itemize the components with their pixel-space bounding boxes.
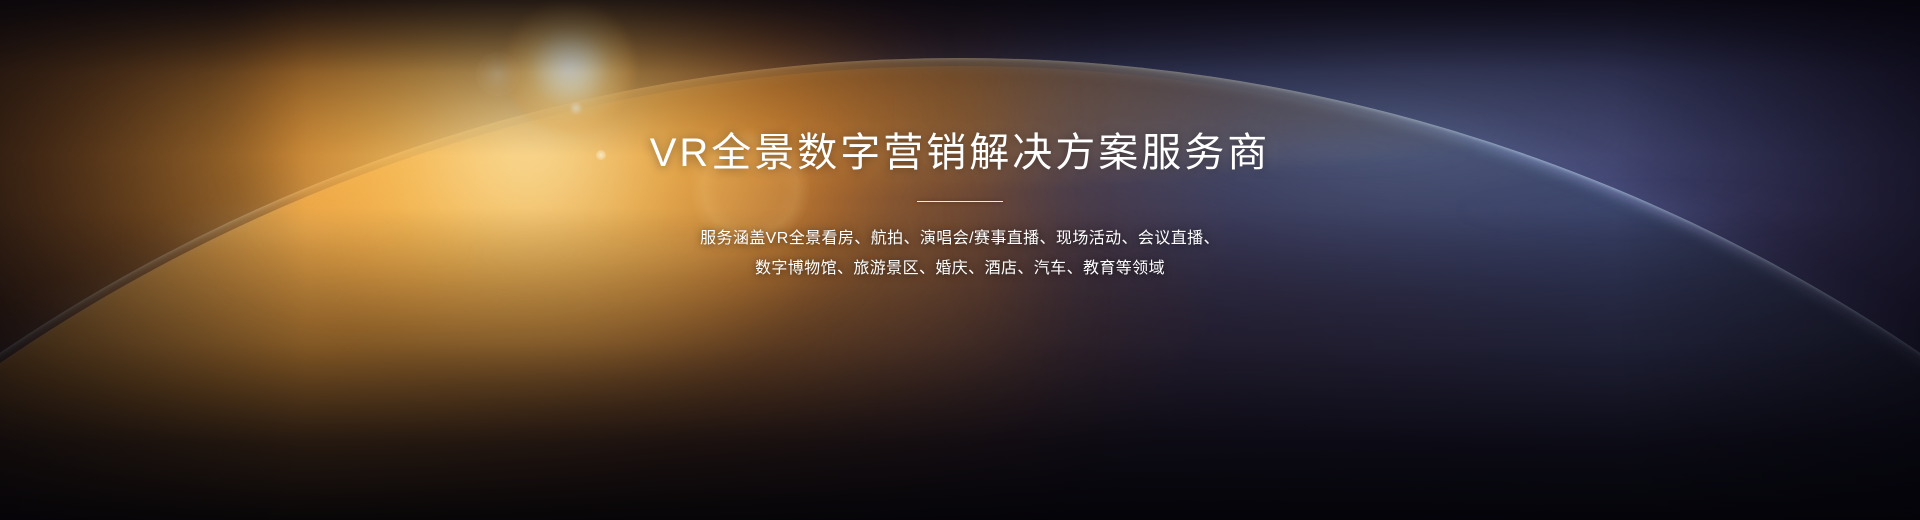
hero-subtitle-line-2: 数字博物馆、旅游景区、婚庆、酒店、汽车、教育等领域: [700, 254, 1220, 284]
title-divider: [917, 201, 1003, 202]
hero-subtitle: 服务涵盖VR全景看房、航拍、演唱会/赛事直播、现场活动、会议直播、 数字博物馆、…: [700, 224, 1220, 284]
hero-content: VR全景数字营销解决方案服务商 服务涵盖VR全景看房、航拍、演唱会/赛事直播、现…: [0, 0, 1920, 520]
hero-title: VR全景数字营销解决方案服务商: [650, 133, 1271, 173]
hero-subtitle-line-1: 服务涵盖VR全景看房、航拍、演唱会/赛事直播、现场活动、会议直播、: [700, 224, 1220, 254]
hero-banner: VR全景数字营销解决方案服务商 服务涵盖VR全景看房、航拍、演唱会/赛事直播、现…: [0, 0, 1920, 520]
